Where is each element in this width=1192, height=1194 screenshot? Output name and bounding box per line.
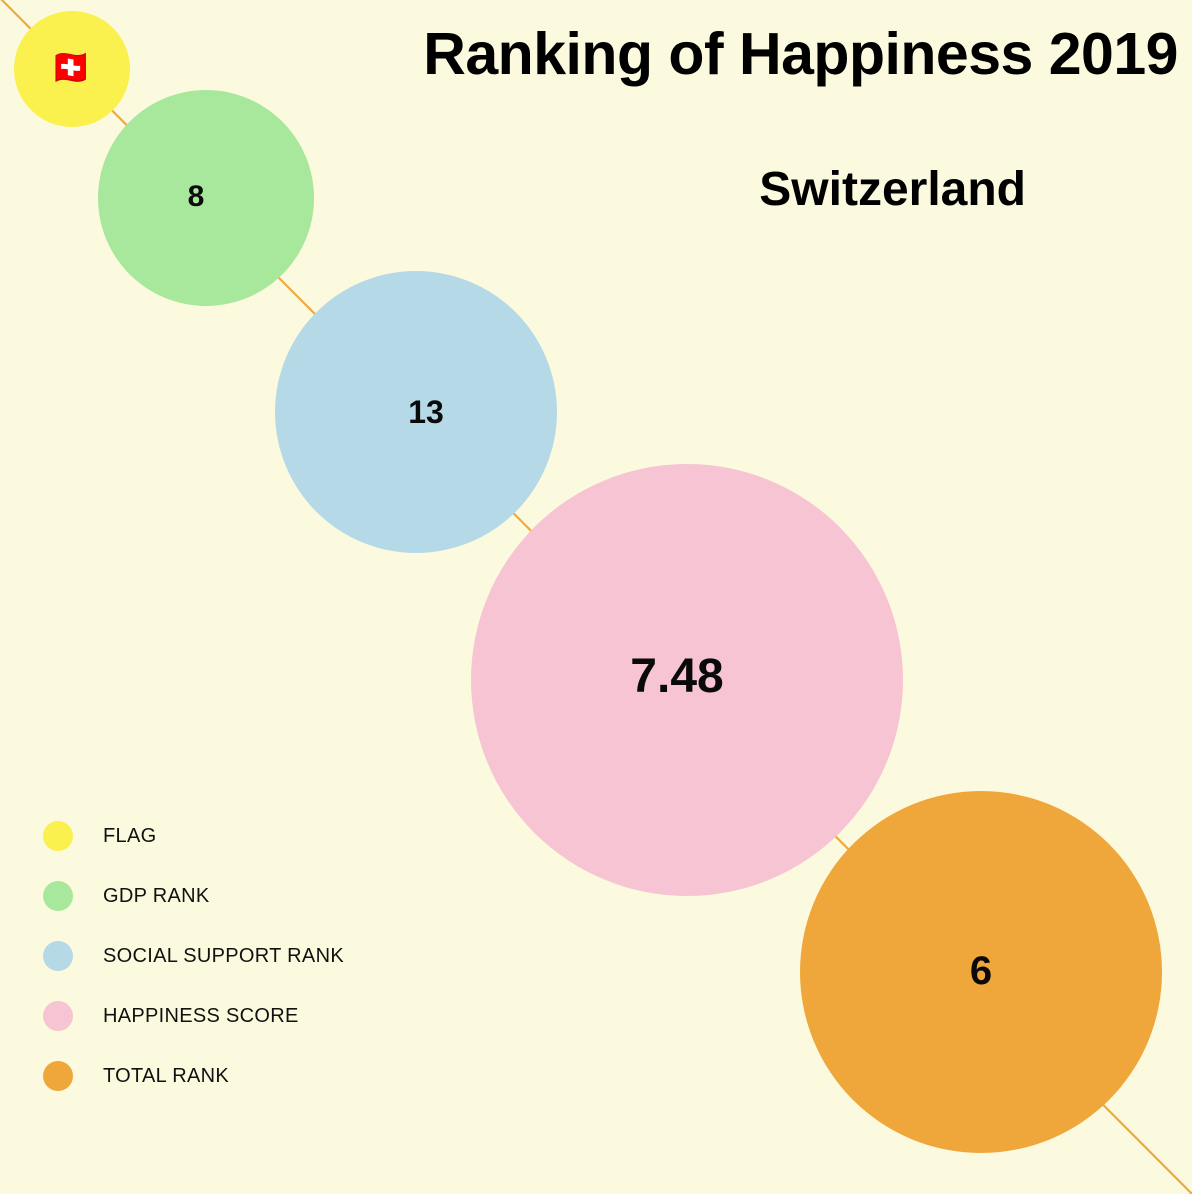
- legend-swatch-social-support-rank: [43, 941, 73, 971]
- legend-label-flag: FLAG: [103, 825, 156, 848]
- legend-label-total-rank: TOTAL RANK: [103, 1065, 229, 1088]
- bubble-happiness-score[interactable]: 7.48: [471, 464, 903, 896]
- legend-item-happiness-score[interactable]: HAPPINESS SCORE: [43, 986, 344, 1046]
- bubble-flag[interactable]: 🇨🇭: [14, 11, 130, 127]
- bubble-total-rank[interactable]: 6: [800, 791, 1162, 1153]
- legend-item-gdp-rank[interactable]: GDP RANK: [43, 866, 344, 926]
- legend-swatch-total-rank: [43, 1061, 73, 1091]
- bubble-gdp-rank-value: 8: [188, 182, 205, 212]
- legend: FLAG GDP RANK SOCIAL SUPPORT RANK HAPPIN…: [43, 806, 344, 1106]
- bubble-happiness-score-value: 7.48: [630, 653, 723, 701]
- legend-swatch-happiness-score: [43, 1001, 73, 1031]
- happiness-ranking-infographic: 🇨🇭 8 13 7.48 6 Ranking of Happiness 2019…: [0, 0, 1192, 1194]
- heading-block: Ranking of Happiness 2019 Switzerland: [278, 24, 1178, 215]
- country-name: Switzerland: [278, 166, 1026, 215]
- legend-item-social-support-rank[interactable]: SOCIAL SUPPORT RANK: [43, 926, 344, 986]
- legend-label-gdp-rank: GDP RANK: [103, 885, 210, 908]
- bubble-social-support-rank[interactable]: 13: [275, 271, 557, 553]
- bubble-social-support-rank-value: 13: [408, 396, 444, 428]
- page-title: Ranking of Happiness 2019: [278, 24, 1178, 84]
- legend-item-flag[interactable]: FLAG: [43, 806, 344, 866]
- legend-swatch-gdp-rank: [43, 881, 73, 911]
- legend-item-total-rank[interactable]: TOTAL RANK: [43, 1046, 344, 1106]
- bubble-total-rank-value: 6: [970, 951, 992, 991]
- legend-label-social-support-rank: SOCIAL SUPPORT RANK: [103, 945, 344, 968]
- switzerland-flag-icon: 🇨🇭: [50, 51, 92, 85]
- legend-swatch-flag: [43, 821, 73, 851]
- legend-label-happiness-score: HAPPINESS SCORE: [103, 1005, 299, 1028]
